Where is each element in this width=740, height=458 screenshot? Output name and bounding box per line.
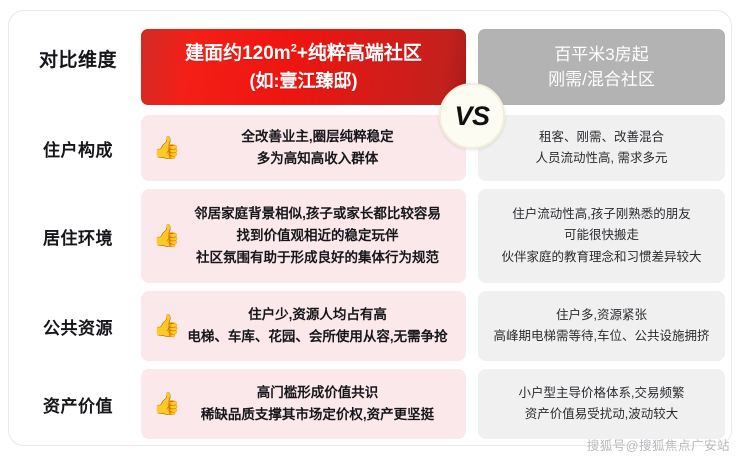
header-premium-line1-suffix: +纯粹高端社区 [297,43,422,64]
row-cell-line: 住户少,资源人均占有高 [187,304,447,326]
row-cell-premium-text: 高门槛形成价值共识 稀缺品质支撑其市场定价权,资产更坚挺 [159,382,448,427]
row-cell-standard: 租客、刚需、改善混合 人员流动性高, 需求多元 [478,115,725,181]
table-row: 居住环境 👍 邻居家庭背景相似,孩子或家长都比较容易 找到价值观相近的稳定玩伴 … [9,189,731,283]
row-cell-line: 伙伴家庭的教育理念和习惯差异较大 [501,247,701,268]
row-cell-line: 高门槛形成价值共识 [201,382,434,404]
row-label: 住户构成 [17,115,139,181]
row-cell-line: 住户多,资源紧张 [494,305,710,326]
thumbs-up-icon: 👍 [153,391,179,417]
watermark: 搜狐号@搜狐焦点广安站 [587,435,730,454]
row-cell-line: 住户流动性高,孩子刚熟悉的朋友 [501,204,701,225]
row-cell-standard-text: 住户流动性高,孩子刚熟悉的朋友 可能很快搬走 伙伴家庭的教育理念和习惯差异较大 [491,204,711,268]
row-cell-line: 社区氛围有助于形成良好的集体行为规范 [194,247,441,269]
row-cell-line: 可能很快搬走 [501,225,701,246]
row-cell-premium: 👍 高门槛形成价值共识 稀缺品质支撑其市场定价权,资产更坚挺 [141,369,466,439]
row-cell-standard: 住户多,资源紧张 高峰期电梯需等待,车位、公共设施拥挤 [478,291,725,361]
table-row: 资产价值 👍 高门槛形成价值共识 稀缺品质支撑其市场定价权,资产更坚挺 小户型主… [9,369,731,439]
row-cell-line: 小户型主导价格体系,交易频繁 [519,383,685,404]
header-premium-line1: 建面约120m2+纯粹高端社区 [185,40,422,68]
header-cell-standard: 百平米3房起 刚需/混合社区 [478,29,725,105]
table-header-row: 对比维度 建面约120m2+纯粹高端社区 (如:壹江臻邸) VS 百平米3房起 … [9,11,731,106]
row-cell-line: 邻居家庭背景相似,孩子或家长都比较容易 [194,203,441,225]
thumbs-up-icon: 👍 [153,135,179,161]
row-cell-premium: 👍 全改善业主,圈层纯粹稳定 多为高知高收入群体 [141,115,466,181]
comparison-infographic: 对比维度 建面约120m2+纯粹高端社区 (如:壹江臻邸) VS 百平米3房起 … [0,0,740,458]
row-cell-line: 找到价值观相近的稳定玩伴 [194,225,441,247]
row-label: 居住环境 [17,189,139,283]
row-cell-standard-text: 租客、刚需、改善混合 人员流动性高, 需求多元 [526,127,678,170]
row-cell-line: 高峰期电梯需等待,车位、公共设施拥挤 [494,326,710,347]
row-cell-premium-text: 全改善业主,圈层纯粹稳定 多为高知高收入群体 [199,126,407,171]
row-label: 资产价值 [17,369,139,439]
header-standard-line2: 刚需/混合社区 [548,67,655,93]
row-cell-line: 稀缺品质支撑其市场定价权,资产更坚挺 [201,404,434,426]
row-cell-standard-text: 小户型主导价格体系,交易频繁 资产价值易受扰动,波动较大 [509,383,695,426]
table-row: 公共资源 👍 住户少,资源人均占有高 电梯、车库、花园、会所使用从容,无需争抢 … [9,291,731,361]
row-cell-premium: 👍 住户少,资源人均占有高 电梯、车库、花园、会所使用从容,无需争抢 [141,291,466,361]
comparison-card: 对比维度 建面约120m2+纯粹高端社区 (如:壹江臻邸) VS 百平米3房起 … [8,10,732,446]
header-standard-line1: 百平米3房起 [554,42,648,68]
thumbs-up-icon: 👍 [153,313,179,339]
row-cell-line: 租客、刚需、改善混合 [536,127,668,148]
row-label: 公共资源 [17,291,139,361]
row-cell-line: 多为高知高收入群体 [241,148,393,170]
table-row: 住户构成 👍 全改善业主,圈层纯粹稳定 多为高知高收入群体 租客、刚需、改善混合… [9,115,731,181]
row-cell-line: 人员流动性高, 需求多元 [536,148,668,169]
row-cell-premium-text: 邻居家庭背景相似,孩子或家长都比较容易 找到价值观相近的稳定玩伴 社区氛围有助于… [152,203,455,270]
row-cell-line: 全改善业主,圈层纯粹稳定 [241,126,393,148]
dimension-column-header: 对比维度 [17,11,139,106]
header-premium-line2: (如:壹江臻邸) [250,68,358,94]
header-cell-premium: 建面约120m2+纯粹高端社区 (如:壹江臻邸) [141,29,466,105]
row-cell-standard-text: 住户多,资源紧张 高峰期电梯需等待,车位、公共设施拥挤 [484,305,720,348]
thumbs-up-icon: 👍 [153,223,179,249]
vs-badge: VS [439,83,505,149]
row-cell-premium: 👍 邻居家庭背景相似,孩子或家长都比较容易 找到价值观相近的稳定玩伴 社区氛围有… [141,189,466,283]
row-cell-line: 资产价值易受扰动,波动较大 [519,404,685,425]
row-cell-line: 电梯、车库、花园、会所使用从容,无需争抢 [187,326,447,348]
row-cell-premium-text: 住户少,资源人均占有高 电梯、车库、花园、会所使用从容,无需争抢 [145,304,461,349]
row-cell-standard: 住户流动性高,孩子刚熟悉的朋友 可能很快搬走 伙伴家庭的教育理念和习惯差异较大 [478,189,725,283]
header-premium-line1-prefix: 建面约120m [185,43,291,64]
row-cell-standard: 小户型主导价格体系,交易频繁 资产价值易受扰动,波动较大 [478,369,725,439]
